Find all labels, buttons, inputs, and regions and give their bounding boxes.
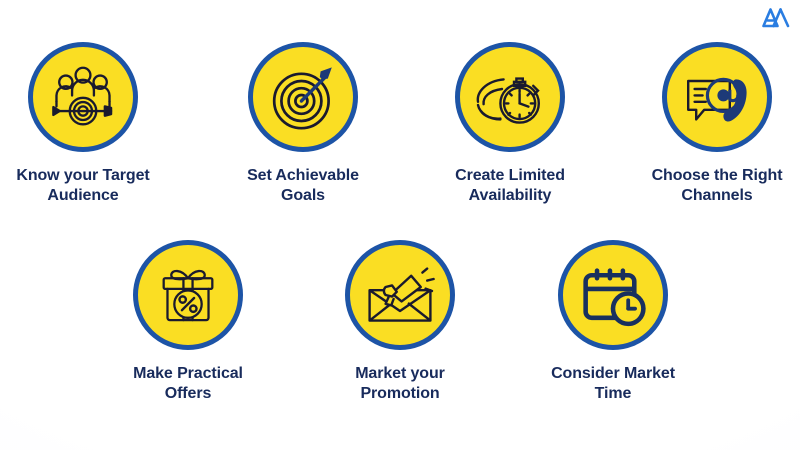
envelope-megaphone-icon: [360, 255, 440, 335]
badge-circle: [133, 240, 243, 350]
infographic-canvas: Know your Target Audience Set Achievable…: [0, 0, 800, 450]
item-label: Market your Promotion: [320, 364, 480, 405]
mountain-logo-icon: [761, 4, 793, 32]
infographic-item-set-achievable-goals[interactable]: Set Achievable Goals: [223, 42, 383, 207]
audience-target-icon: [44, 58, 122, 136]
target-dart-icon: [263, 57, 343, 137]
badge-circle: [345, 240, 455, 350]
infographic-item-create-limited-availability[interactable]: Create Limited Availability: [430, 42, 590, 207]
badge-circle: [28, 42, 138, 152]
calendar-clock-icon: [575, 257, 651, 333]
infographic-item-market-your-promotion[interactable]: Market your Promotion: [320, 240, 480, 405]
item-label: Make Practical Offers: [108, 364, 268, 405]
infographic-item-make-practical-offers[interactable]: Make Practical Offers: [108, 240, 268, 405]
stopwatch-speed-icon: [470, 57, 550, 137]
item-label: Consider Market Time: [533, 364, 693, 405]
infographic-item-choose-the-right-channels[interactable]: Choose the Right Channels: [637, 42, 797, 207]
chat-at-phone-icon: [677, 57, 757, 137]
item-label: Know your Target Audience: [3, 166, 163, 207]
infographic-item-know-your-target-audience[interactable]: Know your Target Audience: [3, 42, 163, 207]
infographic-item-consider-market-time[interactable]: Consider Market Time: [533, 240, 693, 405]
badge-circle: [662, 42, 772, 152]
item-label: Choose the Right Channels: [637, 166, 797, 207]
gift-percent-icon: [150, 257, 226, 333]
badge-circle: [455, 42, 565, 152]
item-label: Create Limited Availability: [430, 166, 590, 207]
item-label: Set Achievable Goals: [223, 166, 383, 207]
badge-circle: [248, 42, 358, 152]
badge-circle: [558, 240, 668, 350]
